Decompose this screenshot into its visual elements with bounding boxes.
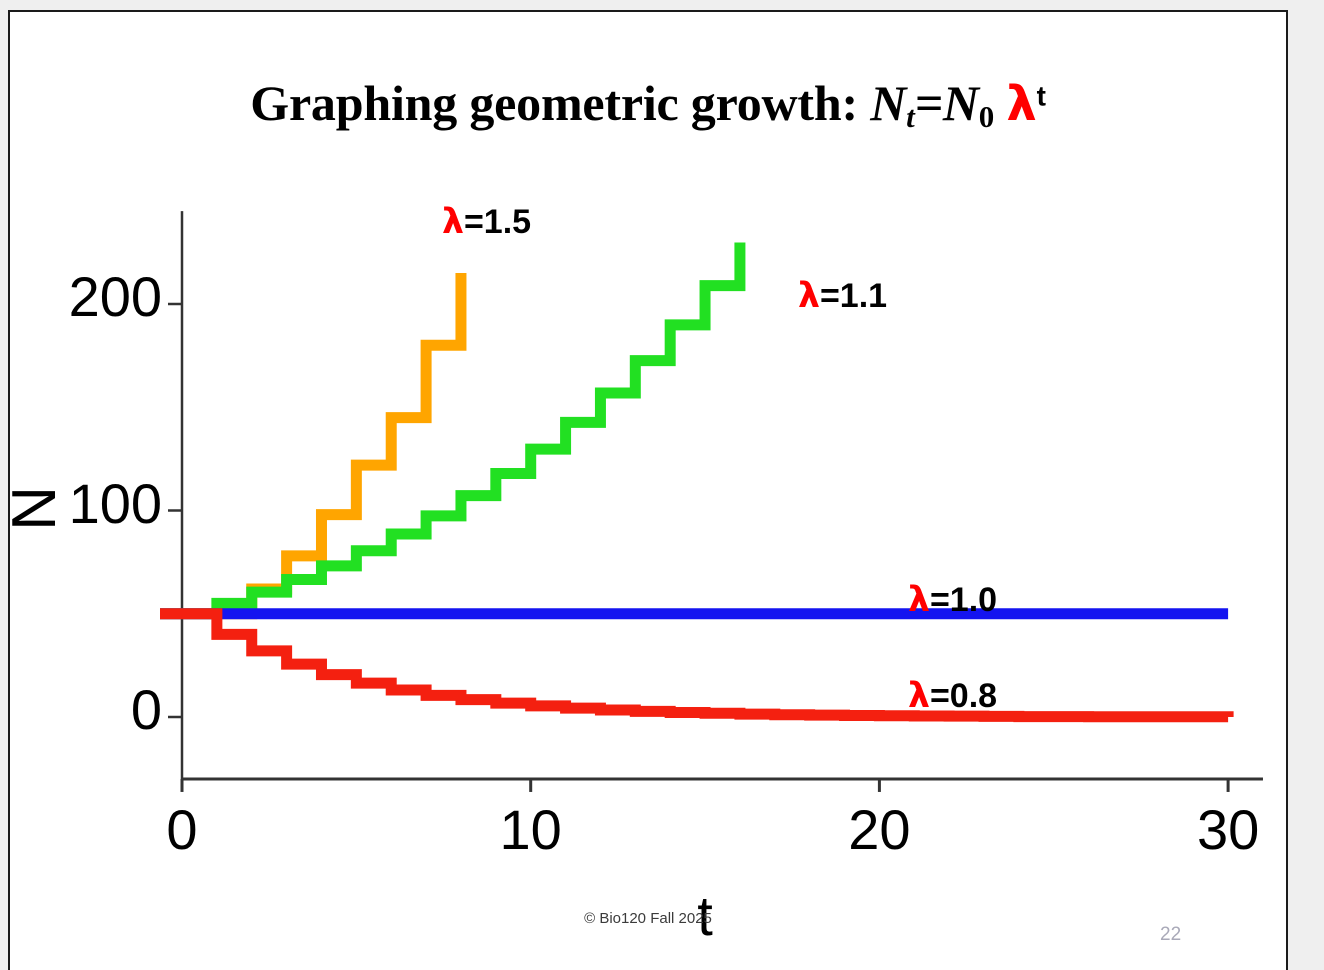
chart-axes <box>168 211 1263 792</box>
series-value-0-8: =0.8 <box>930 677 997 715</box>
x-tick-label-10: 10 <box>451 797 611 862</box>
x-tick-label-30: 30 <box>1148 797 1288 862</box>
series-label-lambda-1-5: λ=1.5 <box>442 202 531 242</box>
chart-series <box>160 242 1228 717</box>
series-label-lambda-0-8: λ=0.8 <box>908 676 997 716</box>
y-tick-label-0: 0 <box>8 677 162 742</box>
series-line-1-5 <box>160 273 461 614</box>
series-value-1-1: =1.1 <box>820 277 887 315</box>
series-value-1-5: =1.5 <box>464 203 531 241</box>
lambda-symbol-icon: λ <box>442 202 464 242</box>
y-axis-label: N <box>8 486 70 531</box>
x-tick-label-20: 20 <box>799 797 959 862</box>
y-tick-label-200: 200 <box>8 264 162 329</box>
series-line-0-8 <box>160 614 1228 717</box>
slide-canvas: Graphing geometric growth: Nt=N0 λt 200 … <box>8 10 1288 970</box>
series-label-lambda-1-0: λ=1.0 <box>908 580 997 620</box>
lambda-symbol-icon: λ <box>908 676 930 716</box>
page-number: 22 <box>1160 924 1181 946</box>
copyright-notice: © Bio120 Fall 2025 <box>10 910 1286 927</box>
x-tick-label-0: 0 <box>102 797 262 862</box>
series-label-lambda-1-1: λ=1.1 <box>798 276 887 316</box>
series-value-1-0: =1.0 <box>930 581 997 619</box>
lambda-symbol-icon: λ <box>908 580 930 620</box>
series-line-1-1 <box>160 242 740 613</box>
lambda-symbol-icon: λ <box>798 276 820 316</box>
